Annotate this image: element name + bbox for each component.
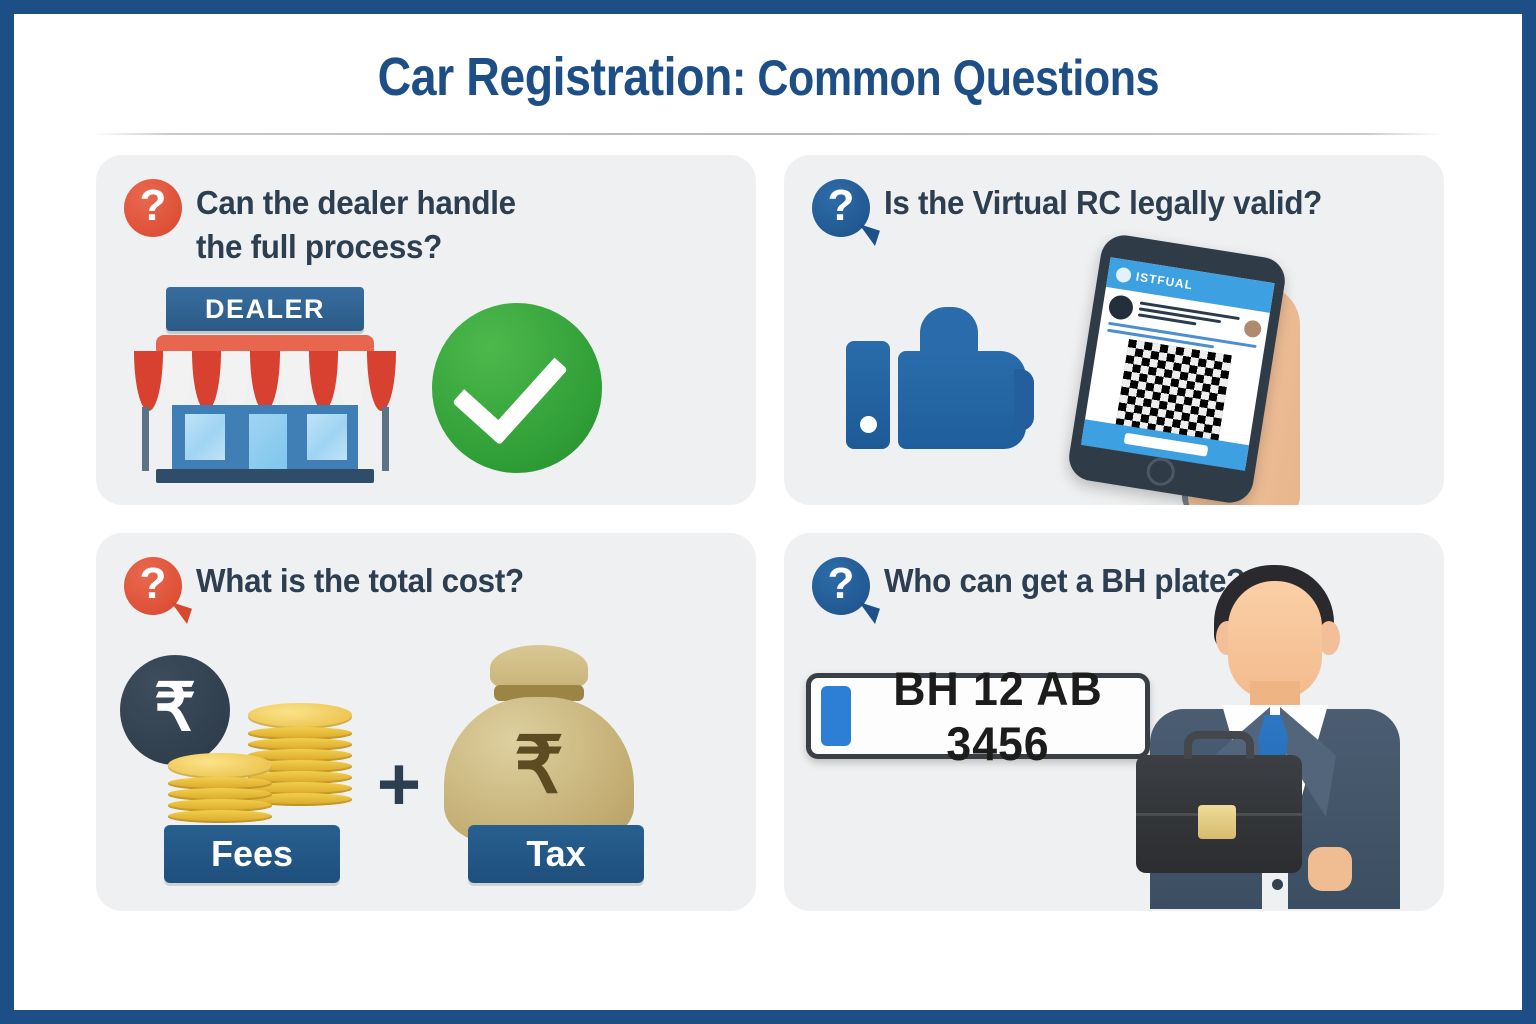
green-check-icon bbox=[432, 303, 602, 473]
phone-home-button[interactable] bbox=[1145, 456, 1177, 488]
jacket-button-2 bbox=[1272, 879, 1283, 890]
dealer-sign: DEALER bbox=[166, 287, 364, 331]
rc-seal-icon bbox=[1243, 319, 1262, 338]
thumbs-up-icon bbox=[846, 307, 1046, 457]
smartphone-illustration: ISTFUAL bbox=[1066, 232, 1289, 505]
businessman-illustration bbox=[1136, 555, 1426, 911]
tax-label: Tax bbox=[468, 825, 644, 883]
shop-window-left bbox=[182, 411, 228, 463]
question-text-virtual-rc: Is the Virtual RC legally valid? bbox=[884, 179, 1322, 225]
dealer-shop-illustration: DEALER bbox=[124, 287, 404, 483]
question-header-total-cost: ? What is the total cost? bbox=[124, 557, 724, 615]
question-glyph: ? bbox=[140, 562, 167, 606]
fees-label: Fees bbox=[164, 825, 340, 883]
title-separator: : bbox=[732, 50, 757, 106]
rupee-coin-icon: ₹ bbox=[120, 655, 230, 765]
plate-number: BH 12 AB 3456 bbox=[858, 661, 1137, 771]
bubble-tail-icon bbox=[166, 602, 192, 624]
license-plate: BH 12 AB 3456 bbox=[806, 673, 1150, 759]
briefcase-handle bbox=[1184, 731, 1254, 759]
title-sub: Common Questions bbox=[757, 50, 1159, 106]
app-name-label: ISTFUAL bbox=[1135, 270, 1194, 293]
plus-operator: + bbox=[372, 763, 426, 817]
coin-stack-short-icon bbox=[168, 755, 272, 823]
plate-blue-strip-icon bbox=[821, 686, 851, 746]
thumb-cuff bbox=[846, 341, 890, 449]
question-glyph: ? bbox=[828, 562, 855, 606]
question-mark-icon: ? bbox=[812, 557, 870, 615]
question-mark-icon: ? bbox=[124, 557, 182, 615]
card-virtual-rc: ? Is the Virtual RC legally valid? ISTFU… bbox=[784, 155, 1444, 505]
question-mark-icon: ? bbox=[124, 179, 182, 237]
question-glyph: ? bbox=[828, 184, 855, 228]
question-header-virtual-rc: ? Is the Virtual RC legally valid? bbox=[812, 179, 1412, 237]
rupee-symbol: ₹ bbox=[154, 674, 196, 740]
question-text-total-cost: What is the total cost? bbox=[196, 557, 524, 603]
question-card-grid: ? Can the dealer handle the full process… bbox=[96, 155, 1444, 917]
infographic-page: Car Registration: Common Questions ? Can… bbox=[14, 14, 1522, 1010]
rc-photo-icon bbox=[1107, 294, 1134, 321]
dealer-sign-label: DEALER bbox=[205, 294, 325, 325]
question-header-dealer: ? Can the dealer handle the full process… bbox=[124, 179, 724, 268]
briefcase-icon bbox=[1136, 755, 1302, 873]
card-dealer: ? Can the dealer handle the full process… bbox=[96, 155, 756, 505]
question-text-dealer: Can the dealer handle the full process? bbox=[196, 179, 516, 268]
hand-icon bbox=[1308, 847, 1352, 891]
card-bh-plate: ? Who can get a BH plate? BH 12 AB 3456 bbox=[784, 533, 1444, 911]
money-bag-icon: ₹ bbox=[444, 645, 634, 845]
bubble-tail-icon bbox=[854, 602, 880, 624]
page-title: Car Registration: Common Questions bbox=[14, 46, 1522, 108]
title-main: Car Registration bbox=[377, 47, 731, 107]
bag-body: ₹ bbox=[444, 697, 634, 845]
bubble-tail-icon bbox=[854, 224, 880, 246]
shop-base bbox=[156, 469, 374, 483]
question-mark-icon: ? bbox=[812, 179, 870, 237]
shop-pillar-left bbox=[142, 407, 149, 471]
briefcase-clasp bbox=[1198, 805, 1236, 839]
app-logo-icon bbox=[1115, 266, 1132, 283]
question-line-2: the full process? bbox=[196, 225, 516, 269]
awning-stripes-icon bbox=[134, 351, 396, 411]
bag-rupee-symbol: ₹ bbox=[514, 726, 564, 816]
shop-pillar-right bbox=[382, 407, 389, 471]
question-line-1: Can the dealer handle bbox=[196, 181, 516, 225]
question-glyph: ? bbox=[140, 184, 167, 228]
card-total-cost: ? What is the total cost? ₹ + ₹ bbox=[96, 533, 756, 911]
thumb-palm bbox=[898, 351, 1026, 449]
shop-window-right bbox=[304, 411, 350, 463]
title-divider bbox=[92, 133, 1444, 135]
